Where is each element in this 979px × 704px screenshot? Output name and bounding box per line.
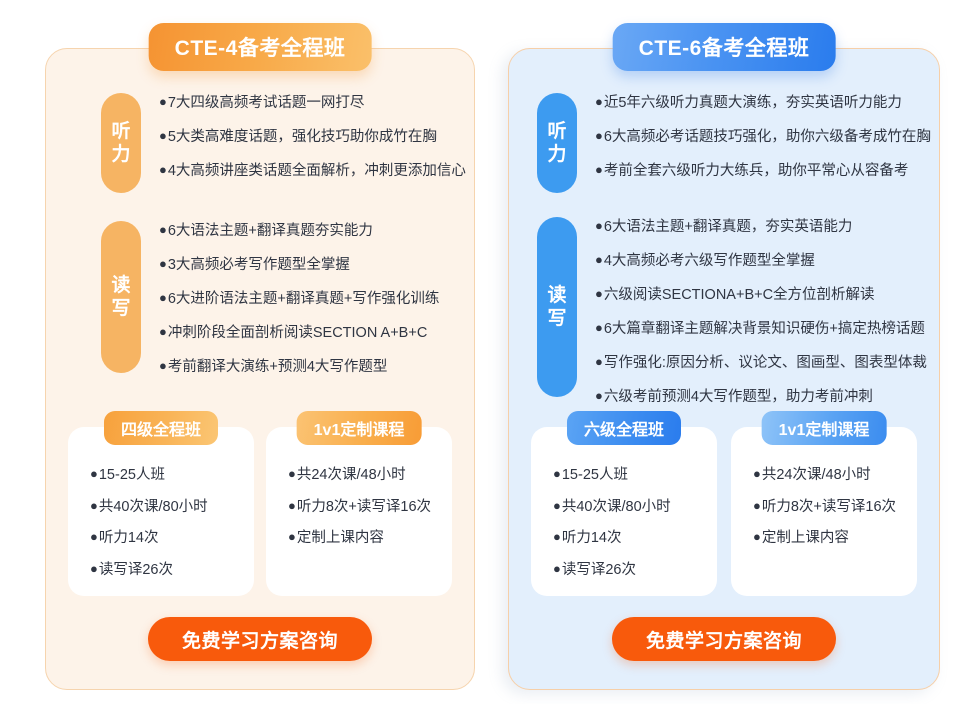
bullet-item: ●6大语法主题+翻译真题，夯实英语能力 <box>595 217 937 238</box>
bullet-dot-icon: ● <box>753 529 761 544</box>
bullet-dot-icon: ● <box>595 354 603 369</box>
bullet-dot-icon: ● <box>595 218 603 233</box>
course-card-cte6: CTE-6备考全程班 听 力 ●近5年六级听力真题大演练，夯实英语听力能力 ●6… <box>508 48 940 690</box>
section-pill-reading-writing: 读 写 <box>537 217 577 397</box>
subcard-full-course[interactable]: 六级全程班 ●15-25人班 ●共40次课/80小时 ●听力14次 ●读写译26… <box>531 427 717 596</box>
bullet-text: 4大高频讲座类话题全面解析，冲刺更添加信心 <box>168 163 466 179</box>
bullet-dot-icon: ● <box>595 128 603 143</box>
bullet-item: ●写作强化:原因分析、议论文、图画型、图表型体裁 <box>595 353 937 374</box>
bullet-dot-icon: ● <box>159 94 167 109</box>
bullet-dot-icon: ● <box>159 128 167 143</box>
section-pill-char-1: 听 <box>111 120 130 143</box>
section-pill-reading-writing: 读 写 <box>101 221 141 373</box>
subcard-list-item: ●读写译26次 <box>553 560 717 581</box>
bullet-dot-icon: ● <box>553 498 561 513</box>
bullet-text: 考前翻译大演练+预测4大写作题型 <box>168 359 388 375</box>
bullet-item: ●6大语法主题+翻译真题夯实能力 <box>159 221 461 242</box>
section-pill-listening: 听 力 <box>101 93 141 193</box>
bullet-dot-icon: ● <box>288 529 296 544</box>
subcard-list-item: ●共24次课/48小时 <box>753 465 917 486</box>
bullet-dot-icon: ● <box>159 222 167 237</box>
bullet-dot-icon: ● <box>595 286 603 301</box>
bullet-text: 六级考前预测4大写作题型，助力考前冲刺 <box>604 389 873 405</box>
subcard-item-text: 共40次课/80小时 <box>99 499 208 515</box>
subcard-item-text: 15-25人班 <box>562 467 628 483</box>
bullet-text: 6大语法主题+翻译真题夯实能力 <box>168 223 373 239</box>
subcard-item-text: 共24次课/48小时 <box>297 467 406 483</box>
section-pill-char-2: 力 <box>111 143 130 166</box>
bullet-dot-icon: ● <box>288 498 296 513</box>
bullet-dot-icon: ● <box>595 162 603 177</box>
bullet-dot-icon: ● <box>90 466 98 481</box>
subcard-item-text: 读写译26次 <box>99 562 173 578</box>
bullet-item: ●3大高频必考写作题型全掌握 <box>159 255 461 276</box>
bullet-text: 6大进阶语法主题+翻译真题+写作强化训练 <box>168 291 440 307</box>
subcard-full-course[interactable]: 四级全程班 ●15-25人班 ●共40次课/80小时 ●听力14次 ●读写译26… <box>68 427 254 596</box>
bullet-text: 6大语法主题+翻译真题，夯实英语能力 <box>604 219 853 235</box>
subcard-list-item: ●听力8次+读写译16次 <box>753 497 917 518</box>
bullet-item: ●考前翻译大演练+预测4大写作题型 <box>159 357 461 378</box>
subcard-one-on-one[interactable]: 1v1定制课程 ●共24次课/48小时 ●听力8次+读写译16次 ●定制上课内容 <box>266 427 452 596</box>
subcard-item-text: 定制上课内容 <box>762 530 849 546</box>
bullet-item: ●5大类高难度话题，强化技巧助你成竹在胸 <box>159 127 466 148</box>
bullet-dot-icon: ● <box>159 290 167 305</box>
bullet-item: ●4大高频讲座类话题全面解析，冲刺更添加信心 <box>159 161 466 182</box>
bullet-dot-icon: ● <box>553 529 561 544</box>
bullet-text: 4大高频必考六级写作题型全掌握 <box>604 253 815 269</box>
bullet-dot-icon: ● <box>595 388 603 403</box>
bullet-text: 7大四级高频考试话题一网打尽 <box>168 95 365 111</box>
bullet-dot-icon: ● <box>159 358 167 373</box>
course-card-cte4: CTE-4备考全程班 听 力 ●7大四级高频考试话题一网打尽 ●5大类高难度话题… <box>45 48 475 690</box>
subcard-row-cte6: 六级全程班 ●15-25人班 ●共40次课/80小时 ●听力14次 ●读写译26… <box>531 427 917 596</box>
subcard-item-text: 共24次课/48小时 <box>762 467 871 483</box>
bullet-dot-icon: ● <box>90 561 98 576</box>
bullet-dot-icon: ● <box>159 162 167 177</box>
section-pill-char-1: 读 <box>547 284 566 307</box>
section-pill-char-1: 读 <box>111 274 130 297</box>
bullet-item: ●六级阅读SECTIONA+B+C全方位剖析解读 <box>595 285 937 306</box>
subcard-item-text: 共40次课/80小时 <box>562 499 671 515</box>
section-pill-listening: 听 力 <box>537 93 577 193</box>
bullet-text: 6大高频必考话题技巧强化，助你六级备考成竹在胸 <box>604 129 931 145</box>
bullet-item: ●六级考前预测4大写作题型，助力考前冲刺 <box>595 387 937 408</box>
bullet-dot-icon: ● <box>159 324 167 339</box>
subcard-one-on-one[interactable]: 1v1定制课程 ●共24次课/48小时 ●听力8次+读写译16次 ●定制上课内容 <box>731 427 917 596</box>
bullet-dot-icon: ● <box>553 561 561 576</box>
bullet-list-listening: ●近5年六级听力真题大演练，夯实英语听力能力 ●6大高频必考话题技巧强化，助你六… <box>577 93 931 182</box>
subcard-list-item: ●定制上课内容 <box>753 528 917 549</box>
bullet-item: ●4大高频必考六级写作题型全掌握 <box>595 251 937 272</box>
bullet-item: ●6大高频必考话题技巧强化，助你六级备考成竹在胸 <box>595 127 931 148</box>
free-consultation-button-cte6[interactable]: 免费学习方案咨询 <box>612 617 836 661</box>
subcard-list: ●15-25人班 ●共40次课/80小时 ●听力14次 ●读写译26次 <box>531 465 717 580</box>
subcard-item-text: 定制上课内容 <box>297 530 384 546</box>
subcard-list-item: ●读写译26次 <box>90 560 254 581</box>
subcard-list-item: ●共40次课/80小时 <box>553 497 717 518</box>
bullet-dot-icon: ● <box>553 466 561 481</box>
bullet-text: 5大类高难度话题，强化技巧助你成竹在胸 <box>168 129 437 145</box>
section-pill-char-2: 力 <box>547 143 566 166</box>
subcard-item-text: 听力14次 <box>99 530 159 546</box>
subcard-list-item: ●共24次课/48小时 <box>288 465 452 486</box>
bullet-dot-icon: ● <box>595 252 603 267</box>
subcard-item-text: 听力8次+读写译16次 <box>297 499 431 515</box>
bullet-dot-icon: ● <box>753 466 761 481</box>
subcard-item-text: 读写译26次 <box>562 562 636 578</box>
bullet-text: 写作强化:原因分析、议论文、图画型、图表型体裁 <box>604 355 927 371</box>
course-card-cte6-title-badge: CTE-6备考全程班 <box>613 23 836 71</box>
bullet-dot-icon: ● <box>595 94 603 109</box>
subcard-list: ●共24次课/48小时 ●听力8次+读写译16次 ●定制上课内容 <box>266 465 452 549</box>
section-cte6-listening: 听 力 ●近5年六级听力真题大演练，夯实英语听力能力 ●6大高频必考话题技巧强化… <box>537 93 927 193</box>
bullet-text: 6大篇章翻译主题解决背景知识硬伤+搞定热榜话题 <box>604 321 925 337</box>
subcard-list-item: ●15-25人班 <box>90 465 254 486</box>
subcard-list: ●共24次课/48小时 ●听力8次+读写译16次 ●定制上课内容 <box>731 465 917 549</box>
bullet-dot-icon: ● <box>90 498 98 513</box>
subcard-list: ●15-25人班 ●共40次课/80小时 ●听力14次 ●读写译26次 <box>68 465 254 580</box>
subcard-list-item: ●听力14次 <box>553 528 717 549</box>
subcard-list-item: ●听力8次+读写译16次 <box>288 497 452 518</box>
bullet-dot-icon: ● <box>288 466 296 481</box>
bullet-item: ●7大四级高频考试话题一网打尽 <box>159 93 466 114</box>
bullet-dot-icon: ● <box>595 320 603 335</box>
bullet-item: ●冲刺阶段全面剖析阅读SECTION A+B+C <box>159 323 461 344</box>
bullet-list-reading-writing: ●6大语法主题+翻译真题夯实能力 ●3大高频必考写作题型全掌握 ●6大进阶语法主… <box>141 221 461 378</box>
bullet-dot-icon: ● <box>753 498 761 513</box>
bullet-item: ●考前全套六级听力大练兵，助你平常心从容备考 <box>595 161 931 182</box>
course-card-cte4-title-badge: CTE-4备考全程班 <box>149 23 372 71</box>
bullet-text: 六级阅读SECTIONA+B+C全方位剖析解读 <box>604 287 875 303</box>
subcard-list-item: ●15-25人班 <box>553 465 717 486</box>
bullet-text: 3大高频必考写作题型全掌握 <box>168 257 350 273</box>
section-pill-char-1: 听 <box>547 120 566 143</box>
bullet-list-reading-writing: ●6大语法主题+翻译真题，夯实英语能力 ●4大高频必考六级写作题型全掌握 ●六级… <box>577 217 937 408</box>
subcard-title-badge: 1v1定制课程 <box>762 411 887 445</box>
subcard-title-badge: 四级全程班 <box>104 411 218 445</box>
section-pill-char-2: 写 <box>547 307 566 330</box>
subcard-list-item: ●共40次课/80小时 <box>90 497 254 518</box>
subcard-item-text: 听力14次 <box>562 530 622 546</box>
bullet-text: 冲刺阶段全面剖析阅读SECTION A+B+C <box>168 325 427 341</box>
subcard-list-item: ●听力14次 <box>90 528 254 549</box>
section-cte4-listening: 听 力 ●7大四级高频考试话题一网打尽 ●5大类高难度话题，强化技巧助你成竹在胸… <box>101 93 461 193</box>
free-consultation-button-cte4[interactable]: 免费学习方案咨询 <box>148 617 372 661</box>
bullet-dot-icon: ● <box>90 529 98 544</box>
section-cte6-reading-writing: 读 写 ●6大语法主题+翻译真题，夯实英语能力 ●4大高频必考六级写作题型全掌握… <box>537 217 937 408</box>
bullet-item: ●6大进阶语法主题+翻译真题+写作强化训练 <box>159 289 461 310</box>
subcard-item-text: 听力8次+读写译16次 <box>762 499 896 515</box>
subcard-list-item: ●定制上课内容 <box>288 528 452 549</box>
bullet-text: 考前全套六级听力大练兵，助你平常心从容备考 <box>604 163 909 179</box>
section-cte4-reading-writing: 读 写 ●6大语法主题+翻译真题夯实能力 ●3大高频必考写作题型全掌握 ●6大进… <box>101 221 461 378</box>
bullet-text: 近5年六级听力真题大演练，夯实英语听力能力 <box>604 95 902 111</box>
promo-comparison-stage: CTE-4备考全程班 听 力 ●7大四级高频考试话题一网打尽 ●5大类高难度话题… <box>0 0 979 704</box>
bullet-dot-icon: ● <box>159 256 167 271</box>
subcard-item-text: 15-25人班 <box>99 467 165 483</box>
bullet-item: ●6大篇章翻译主题解决背景知识硬伤+搞定热榜话题 <box>595 319 937 340</box>
subcard-title-badge: 1v1定制课程 <box>297 411 422 445</box>
bullet-item: ●近5年六级听力真题大演练，夯实英语听力能力 <box>595 93 931 114</box>
section-pill-char-2: 写 <box>111 297 130 320</box>
bullet-list-listening: ●7大四级高频考试话题一网打尽 ●5大类高难度话题，强化技巧助你成竹在胸 ●4大… <box>141 93 466 182</box>
subcard-title-badge: 六级全程班 <box>567 411 681 445</box>
subcard-row-cte4: 四级全程班 ●15-25人班 ●共40次课/80小时 ●听力14次 ●读写译26… <box>68 427 452 596</box>
